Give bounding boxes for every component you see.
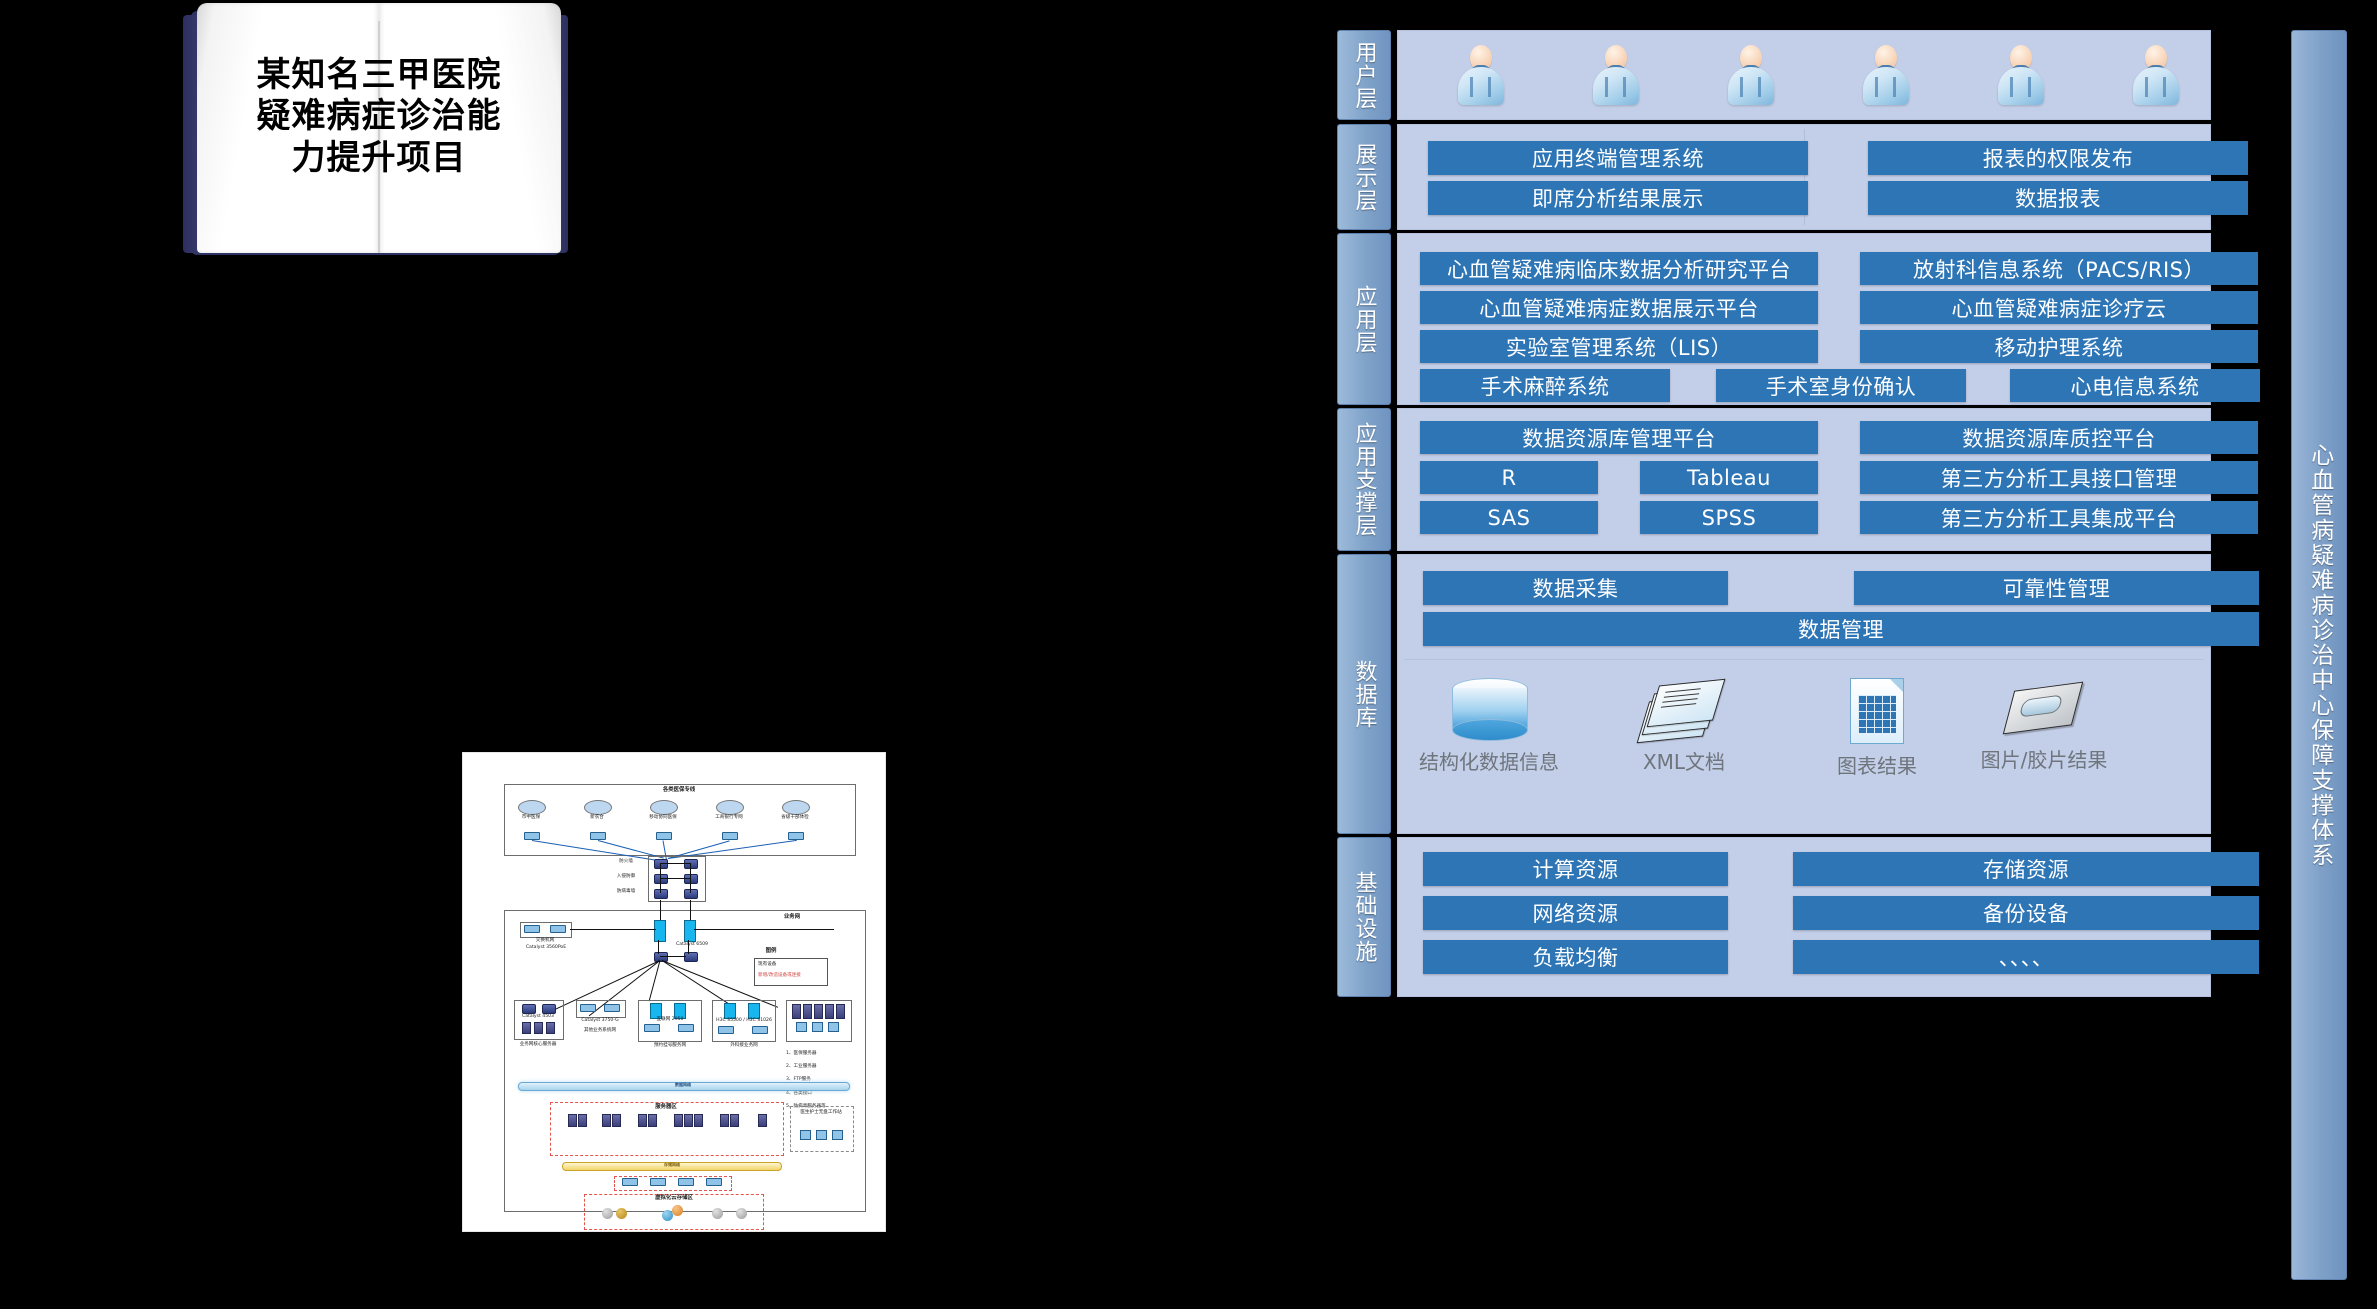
xml-documents-icon [1644, 678, 1724, 740]
server-icon [546, 1022, 555, 1034]
workstation-icon [796, 1022, 807, 1032]
cloud-icon [716, 800, 744, 815]
switch-icon [752, 1026, 768, 1034]
layer-body-infrastructure: 计算资源 网络资源 负载均衡 存储资源 备份设备 、、、、 [1397, 837, 2211, 997]
switch-icon [788, 832, 804, 840]
edge-switch-model: Catalyst 3560PoE [506, 945, 586, 951]
db-xml-item: XML文档 [1599, 678, 1769, 775]
switch-icon [644, 1024, 660, 1032]
workstation-icon [816, 1130, 827, 1140]
branch-label: 业务网核心服务器 [510, 1042, 566, 1048]
link-line [660, 863, 661, 893]
layer-label-database-text: 数据库 [1352, 660, 1375, 729]
application-bottom-btn-2[interactable]: 手术室身份确认 [1716, 369, 1966, 402]
link-line [694, 929, 834, 930]
user-avatar-icon [1728, 45, 1774, 105]
layer-application: 应用层 心血管疑难病临床数据分析研究平台 心血管疑难病症数据展示平台 实验室管理… [1337, 233, 2279, 403]
application-right-btn-1[interactable]: 放射科信息系统（PACS/RIS） [1860, 252, 2258, 285]
layer-label-app-support-text: 应用支撑层 [1352, 422, 1375, 537]
server-icon [814, 1004, 823, 1019]
cloud-icon [518, 800, 546, 815]
cloud-label: 工商银行专网 [706, 815, 752, 821]
database-manage-btn[interactable]: 数据管理 [1423, 612, 2259, 646]
business-network-title: 业务网 [762, 914, 822, 921]
server-icon [792, 1004, 801, 1019]
presentation-left-btn-1[interactable]: 应用终端管理系统 [1428, 141, 1808, 175]
layer-body-presentation: 应用终端管理系统 即席分析结果展示 报表的权限发布 数据报表 [1397, 124, 2211, 230]
cloud-icon [650, 800, 678, 815]
antivirus-icon [684, 889, 698, 899]
user-avatar-icon [1593, 45, 1639, 105]
support-right-btn-2[interactable]: 第三方分析工具集成平台 [1860, 501, 2258, 534]
branch-model: 互联网 2950 [644, 1017, 696, 1023]
layer-database: 数据库 数据采集 可靠性管理 数据管理 结构化数据信息 XML文档 图表结果 [1337, 554, 2279, 832]
layer-label-presentation-text: 展示层 [1352, 143, 1375, 212]
link-line [660, 863, 690, 864]
application-right-btn-2[interactable]: 心血管疑难病症诊疗云 [1860, 291, 2258, 324]
link-line [688, 940, 689, 954]
cloud-label: 新农合 [574, 815, 620, 821]
nurse-station-label: 医生护士无盘工作站 [792, 1110, 850, 1116]
switch-icon [706, 1178, 722, 1186]
support-tool-r-btn[interactable]: R [1420, 461, 1598, 494]
security-label: 防病毒墙 [606, 889, 646, 895]
book-graphic: 某知名三甲医院 疑难病症诊治能 力提升项目 [183, 3, 568, 258]
layer-label-application[interactable]: 应用层 [1337, 233, 1391, 405]
security-label: 入侵防御 [606, 874, 646, 880]
workstation-icon [828, 1022, 839, 1032]
disk-icon [712, 1208, 723, 1219]
firewall-icon [654, 859, 668, 869]
database-icons-row: 结构化数据信息 XML文档 图表结果 图片/胶片结果 [1404, 659, 2204, 827]
infra-left-btn-3[interactable]: 负载均衡 [1423, 940, 1728, 974]
layer-presentation: 展示层 应用终端管理系统 即席分析结果展示 报表的权限发布 数据报表 [1337, 124, 2279, 228]
db-film-item: 图片/胶片结果 [1959, 678, 2129, 773]
link-line [660, 878, 690, 879]
switch-icon [524, 925, 540, 933]
core-switch-icon [684, 920, 696, 942]
server-icon [694, 1114, 703, 1127]
disk-icon [672, 1205, 683, 1216]
user-avatar-icon [1998, 45, 2044, 105]
storage-zone-title: 虚拟化云存储区 [634, 1195, 714, 1202]
external-lines-title: 各类医保专线 [604, 787, 754, 794]
db-structured-data-label: 结构化数据信息 [1404, 746, 1574, 775]
support-right-wide-btn[interactable]: 数据资源库质控平台 [1860, 421, 2258, 454]
book-title-line-2: 疑难病症诊治能 [197, 96, 561, 137]
server-icon [578, 1114, 587, 1127]
link-line [690, 863, 691, 893]
server-icon [602, 1114, 611, 1127]
application-left-btn-2[interactable]: 心血管疑难病症数据展示平台 [1420, 291, 1818, 324]
layer-body-application: 心血管疑难病临床数据分析研究平台 心血管疑难病症数据展示平台 实验室管理系统（L… [1397, 233, 2211, 405]
workstation-icon [832, 1130, 843, 1140]
switch-icon [650, 1178, 666, 1186]
switch-icon [522, 1004, 536, 1014]
switch-icon [604, 1004, 620, 1012]
layer-user: 用户层 [1337, 30, 2279, 118]
server-icon [836, 1004, 845, 1019]
user-avatar-icon [2133, 45, 2179, 105]
server-icon [612, 1114, 621, 1127]
edge-switch-label: 交换机网 [514, 938, 576, 944]
server-icon [825, 1004, 834, 1019]
support-tool-spss-btn[interactable]: SPSS [1640, 501, 1818, 534]
firewall-icon [684, 859, 698, 869]
link-line [660, 956, 686, 957]
presentation-right-btn-2[interactable]: 数据报表 [1868, 181, 2248, 215]
server-list-item: 4、各类接口 [786, 1091, 812, 1096]
server-zone-title: 服务器区 [636, 1104, 696, 1111]
book-title: 某知名三甲医院 疑难病症诊治能 力提升项目 [197, 55, 561, 179]
network-topology-diagram: 各类医保专线 市中医保 新农合 移动协同医保 工商银行专网 省级干部体检 防火墙… [462, 752, 886, 1232]
branch-model: H3C S5500 / H3C S1026 [716, 1018, 772, 1024]
db-xml-label: XML文档 [1599, 746, 1769, 775]
layer-body-database: 数据采集 可靠性管理 数据管理 结构化数据信息 XML文档 图表结果 [1397, 554, 2211, 834]
db-chart-item: 图表结果 [1792, 678, 1962, 779]
layer-infrastructure: 基础设施 计算资源 网络资源 负载均衡 存储资源 备份设备 、、、、 [1337, 837, 2279, 995]
switch-icon [722, 832, 738, 840]
legend-title: 图例 [756, 948, 786, 955]
infra-right-btn-2[interactable]: 备份设备 [1793, 896, 2259, 930]
server-list-item: 2、工业服务器 [786, 1064, 817, 1069]
db-structured-data-item: 结构化数据信息 [1404, 678, 1574, 775]
switch-icon [524, 832, 540, 840]
switch-icon [718, 1026, 734, 1034]
storage-network-bar-label: 存储网络 [642, 1162, 702, 1167]
server-icon [568, 1114, 577, 1127]
application-left-btn-1[interactable]: 心血管疑难病临床数据分析研究平台 [1420, 252, 1818, 285]
support-system-rail: 心血管病疑难病诊治中心保障支撑体系 [2291, 30, 2347, 1280]
workstation-icon [812, 1022, 823, 1032]
branch-label: 预约挂号服务网 [642, 1043, 698, 1049]
security-label: 防火墙 [606, 859, 646, 865]
application-bottom-btn-3[interactable]: 心电信息系统 [2010, 369, 2260, 402]
switch-icon [622, 1178, 638, 1186]
layer-label-user[interactable]: 用户层 [1337, 30, 1391, 120]
support-left-wide-btn[interactable]: 数据资源库管理平台 [1420, 421, 1818, 454]
disk-icon [602, 1208, 613, 1219]
switch-icon [590, 832, 606, 840]
core-switch-icon [654, 920, 666, 942]
router-icon [684, 952, 698, 962]
spreadsheet-chart-icon [1850, 678, 1904, 744]
link-line [658, 940, 659, 954]
data-network-bar-label: 数据网络 [648, 1082, 718, 1087]
ips-icon [654, 874, 668, 884]
antivirus-icon [654, 889, 668, 899]
server-icon [522, 1022, 531, 1034]
branch-model: Catalyst 3750-G [572, 1018, 628, 1024]
layer-label-infrastructure[interactable]: 基础设施 [1337, 837, 1391, 997]
layer-label-presentation[interactable]: 展示层 [1337, 124, 1391, 230]
layer-label-user-text: 用户层 [1352, 41, 1375, 110]
cloud-label: 市中医保 [508, 815, 554, 821]
book-title-line-3: 力提升项目 [197, 138, 561, 179]
server-icon [720, 1114, 729, 1127]
workstation-icon [800, 1130, 811, 1140]
server-icon [684, 1114, 693, 1127]
database-collect-btn[interactable]: 数据采集 [1423, 571, 1728, 605]
switch-icon [748, 1003, 760, 1019]
server-list-item: 1、医保服务器 [786, 1051, 817, 1056]
presentation-left-btn-2[interactable]: 即席分析结果展示 [1428, 181, 1808, 215]
infra-left-btn-1[interactable]: 计算资源 [1423, 852, 1728, 886]
branch-label: 外科接业务网 [716, 1043, 772, 1049]
layer-label-infrastructure-text: 基础设施 [1352, 871, 1375, 963]
layer-label-database[interactable]: 数据库 [1337, 554, 1391, 834]
switch-icon [678, 1024, 694, 1032]
switch-icon [580, 1004, 596, 1012]
infra-right-btn-3[interactable]: 、、、、 [1793, 940, 2259, 974]
application-right-btn-3[interactable]: 移动护理系统 [1860, 330, 2258, 363]
switch-icon [678, 1178, 694, 1186]
db-chart-label: 图表结果 [1792, 750, 1962, 779]
layer-body-app-support: 数据资源库管理平台 数据资源库质控平台 R Tableau SAS SPSS 第… [1397, 408, 2211, 551]
database-cylinder-icon [1452, 678, 1526, 740]
branch-label: 其他业务系统网 [576, 1028, 624, 1034]
support-tool-tableau-btn[interactable]: Tableau [1640, 461, 1818, 494]
server-icon [730, 1114, 739, 1127]
branch-model: Catalyst 4503 [512, 1014, 564, 1020]
server-icon [803, 1004, 812, 1019]
switch-icon [724, 1003, 736, 1019]
layer-label-application-text: 应用层 [1352, 285, 1375, 354]
ips-icon [684, 874, 698, 884]
disk-icon [736, 1208, 747, 1219]
layer-app-support: 应用支撑层 数据资源库管理平台 数据资源库质控平台 R Tableau SAS … [1337, 408, 2279, 549]
layer-label-app-support[interactable]: 应用支撑层 [1337, 408, 1391, 551]
switch-icon [542, 1004, 556, 1014]
switch-icon [550, 925, 566, 933]
user-avatar-icon [1458, 45, 1504, 105]
application-bottom-btn-1[interactable]: 手术麻醉系统 [1420, 369, 1670, 402]
server-icon [758, 1114, 767, 1127]
db-film-label: 图片/胶片结果 [1959, 744, 2129, 773]
cloud-label: 移动协同医保 [640, 815, 686, 821]
infra-right-btn-1[interactable]: 存储资源 [1793, 852, 2259, 886]
infra-left-btn-2[interactable]: 网络资源 [1423, 896, 1728, 930]
presentation-right-btn-1[interactable]: 报表的权限发布 [1868, 141, 2248, 175]
server-icon [534, 1022, 543, 1034]
book-title-line-1: 某知名三甲医院 [197, 55, 561, 96]
link-line [570, 929, 656, 930]
architecture-diagram: 心血管病疑难病诊治中心保障支撑体系 用户层 [1337, 30, 2347, 1278]
application-left-btn-3[interactable]: 实验室管理系统（LIS） [1420, 330, 1818, 363]
legend-item: 现有设备 [758, 962, 824, 968]
cloud-icon [584, 800, 612, 815]
user-avatar-icon [1863, 45, 1909, 105]
disk-icon [616, 1208, 627, 1219]
server-list: 1、医保服务器 2、工业服务器 3、FTP服务 4、各类接口 5、防病毒服务器等 [786, 1044, 858, 1111]
database-reliability-btn[interactable]: 可靠性管理 [1854, 571, 2259, 605]
switch-icon [656, 832, 672, 840]
legend-item: 新增/改造设备或连接 [758, 973, 824, 979]
film-image-icon [2006, 678, 2082, 738]
cloud-icon [782, 800, 810, 815]
server-icon [638, 1114, 647, 1127]
support-tool-sas-btn[interactable]: SAS [1420, 501, 1598, 534]
cloud-label: 省级干部体检 [772, 815, 818, 821]
server-icon [648, 1114, 657, 1127]
support-right-btn-1[interactable]: 第三方分析工具接口管理 [1860, 461, 2258, 494]
layer-body-user [1397, 30, 2211, 120]
link-line [690, 900, 691, 922]
support-system-rail-label: 心血管病疑难病诊治中心保障支撑体系 [2307, 443, 2330, 868]
link-line [660, 900, 661, 922]
server-icon [674, 1114, 683, 1127]
